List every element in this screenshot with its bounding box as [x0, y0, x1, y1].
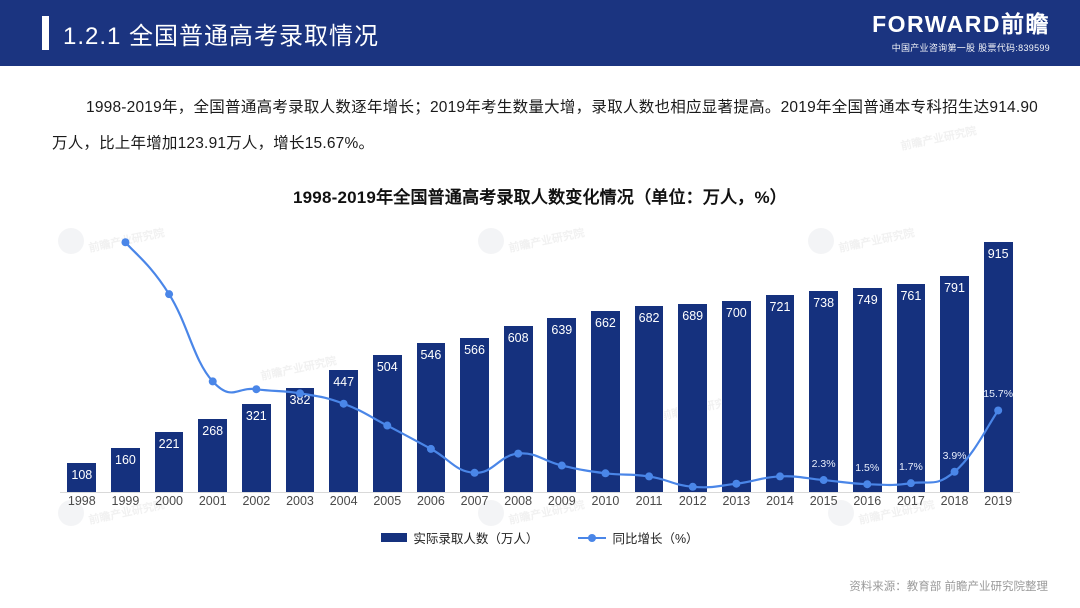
x-axis-tick-2000: 2000 — [147, 494, 191, 508]
bar-2012 — [677, 304, 708, 492]
growth-value-label-2015: 2.3% — [802, 458, 846, 470]
x-axis-tick-2005: 2005 — [365, 494, 409, 508]
bar-value-label-2005: 504 — [368, 360, 407, 374]
bar-value-label-2004: 447 — [324, 375, 363, 389]
x-axis-tick-2019: 2019 — [976, 494, 1020, 508]
x-axis-tick-2013: 2013 — [715, 494, 759, 508]
bar-value-label-2003: 382 — [281, 393, 320, 407]
bar-value-label-2006: 546 — [412, 348, 451, 362]
x-axis-tick-1999: 1999 — [104, 494, 148, 508]
x-axis-tick-2015: 2015 — [802, 494, 846, 508]
chart-title: 1998-2019年全国普通高考录取人数变化情况（单位：万人，%） — [0, 183, 1080, 208]
bar-2011 — [634, 306, 665, 492]
chart-container: 1081602212683213824475045465666086396626… — [60, 222, 1020, 492]
bar-value-label-2013: 700 — [717, 306, 756, 320]
x-axis-tick-2006: 2006 — [409, 494, 453, 508]
x-axis-tick-2009: 2009 — [540, 494, 584, 508]
bar-value-label-2002: 321 — [237, 409, 276, 423]
bar-2019 — [983, 242, 1014, 492]
x-axis-tick-2007: 2007 — [453, 494, 497, 508]
x-axis-tick-2002: 2002 — [235, 494, 279, 508]
bar-value-label-2019: 915 — [979, 247, 1018, 261]
bar-2013 — [721, 301, 752, 492]
source-note: 资料来源：教育部 前瞻产业研究院整理 — [849, 578, 1048, 594]
bar-2010 — [590, 311, 621, 492]
growth-value-label-2019: 15.7% — [976, 388, 1020, 400]
bar-value-label-2015: 738 — [804, 296, 843, 310]
chart-plot-area: 1081602212683213824475045465666086396626… — [60, 222, 1020, 492]
brand-logo: FORWARD前瞻 中国产业咨询第一股 股票代码:839599 — [872, 12, 1050, 54]
growth-value-label-2018: 3.9% — [933, 450, 977, 462]
chart-legend: 实际录取人数（万人）同比增长（%） — [0, 528, 1080, 547]
x-axis-tick-2017: 2017 — [889, 494, 933, 508]
slide-header: 1.2.1 全国普通高考录取情况 FORWARD前瞻 中国产业咨询第一股 股票代… — [0, 0, 1080, 66]
x-axis-tick-2004: 2004 — [322, 494, 366, 508]
x-axis-tick-2003: 2003 — [278, 494, 322, 508]
bar-2007 — [459, 338, 490, 492]
x-axis-tick-2010: 2010 — [584, 494, 628, 508]
brand-logo-wordmark: FORWARD前瞻 — [872, 12, 1050, 37]
slide-page: 前瞻产业研究院 前瞻产业研究院 前瞻产业研究院 前瞻产业研究院 前瞻产业研究院 … — [0, 0, 1080, 608]
bar-value-label-2018: 791 — [935, 281, 974, 295]
x-axis-tick-2011: 2011 — [627, 494, 671, 508]
bar-value-label-2001: 268 — [193, 424, 232, 438]
x-axis-tick-1998: 1998 — [60, 494, 104, 508]
x-axis-tick-2016: 2016 — [845, 494, 889, 508]
bar-value-label-2012: 689 — [673, 309, 712, 323]
bar-value-label-2007: 566 — [455, 343, 494, 357]
x-axis-tick-2012: 2012 — [671, 494, 715, 508]
page-title: 1.2.1 全国普通高考录取情况 — [63, 16, 379, 51]
growth-value-label-2016: 1.5% — [845, 462, 889, 474]
bar-value-label-2017: 761 — [892, 289, 931, 303]
legend-label: 同比增长（%） — [612, 528, 698, 547]
bar-value-label-2010: 662 — [586, 316, 625, 330]
growth-value-label-2017: 1.7% — [889, 461, 933, 473]
bar-2008 — [503, 326, 534, 492]
bar-value-label-2008: 608 — [499, 331, 538, 345]
brand-logo-tagline: 中国产业咨询第一股 股票代码:839599 — [872, 41, 1050, 54]
bar-value-label-2000: 221 — [150, 437, 189, 451]
legend-line-swatch-icon — [578, 533, 606, 543]
bar-2014 — [765, 295, 796, 492]
x-axis-tick-2018: 2018 — [933, 494, 977, 508]
x-axis-labels: 1998199920002001200220032004200520062007… — [60, 494, 1020, 516]
legend-item-growth[interactable]: 同比增长（%） — [578, 528, 698, 547]
x-axis-tick-2008: 2008 — [496, 494, 540, 508]
legend-item-admissions[interactable]: 实际录取人数（万人） — [381, 528, 538, 547]
body-paragraph: 1998-2019年，全国普通高考录取人数逐年增长；2019年考生数量大增，录取… — [52, 90, 1038, 162]
bar-2005 — [372, 355, 403, 492]
bar-2009 — [546, 318, 577, 492]
legend-bar-swatch-icon — [381, 533, 407, 542]
bar-2006 — [416, 343, 447, 492]
legend-label: 实际录取人数（万人） — [413, 528, 538, 547]
bar-value-label-2014: 721 — [761, 300, 800, 314]
bar-value-label-1999: 160 — [106, 453, 145, 467]
bar-value-label-2009: 639 — [542, 323, 581, 337]
x-axis-tick-2014: 2014 — [758, 494, 802, 508]
bar-value-label-1998: 108 — [62, 468, 101, 482]
bar-value-label-2011: 682 — [630, 311, 669, 325]
bar-value-label-2016: 749 — [848, 293, 887, 307]
x-axis-tick-2001: 2001 — [191, 494, 235, 508]
title-accent-bar — [42, 16, 49, 50]
x-axis-line — [60, 492, 1020, 493]
